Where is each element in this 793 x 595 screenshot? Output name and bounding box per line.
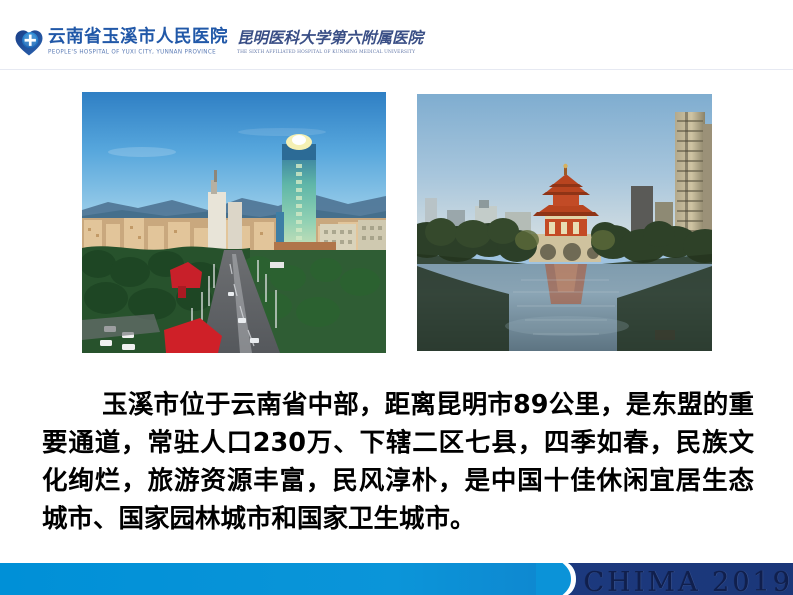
yuxi-city-skyline-photo <box>82 92 386 353</box>
footer-brand-label: CHIMA 2019 <box>584 567 793 595</box>
hospital-primary-name: 云南省玉溪市人民医院 PEOPLE'S HOSPITAL OF YUXI CIT… <box>48 28 228 56</box>
header-divider <box>0 69 793 70</box>
footer-blue-band <box>0 563 566 595</box>
paragraph-text: 玉溪市位于云南省中部，距离昆明市89公里，是东盟的重要通道，常驻人口230万、下… <box>42 390 754 534</box>
hospital-logo-block: 云南省玉溪市人民医院 PEOPLE'S HOSPITAL OF YUXI CIT… <box>14 28 432 58</box>
hospital-name-cn: 云南省玉溪市人民医院 <box>48 28 228 47</box>
yuxi-river-pavilion-photo <box>417 94 712 351</box>
footer-swoosh-divider-icon <box>536 563 578 595</box>
hospital-name-group: 云南省玉溪市人民医院 PEOPLE'S HOSPITAL OF YUXI CIT… <box>48 28 432 56</box>
slide-body-paragraph: 玉溪市位于云南省中部，距离昆明市89公里，是东盟的重要通道，常驻人口230万、下… <box>42 386 754 538</box>
affiliate-name-en: THE SIXTH AFFILIATED HOSPITAL OF KUNMING… <box>237 49 423 56</box>
slide-header: 云南省玉溪市人民医院 PEOPLE'S HOSPITAL OF YUXI CIT… <box>0 0 793 72</box>
heart-cross-logo-icon <box>14 28 44 58</box>
hospital-affiliate-name: 昆明医科大学第六附属医院 THE SIXTH AFFILIATED HOSPIT… <box>237 28 423 56</box>
affiliate-name-cn: 昆明医科大学第六附属医院 <box>237 28 423 47</box>
slide-footer: CHIMA 2019 <box>0 563 793 595</box>
hospital-name-en: PEOPLE'S HOSPITAL OF YUXI CITY, YUNNAN P… <box>48 48 228 57</box>
